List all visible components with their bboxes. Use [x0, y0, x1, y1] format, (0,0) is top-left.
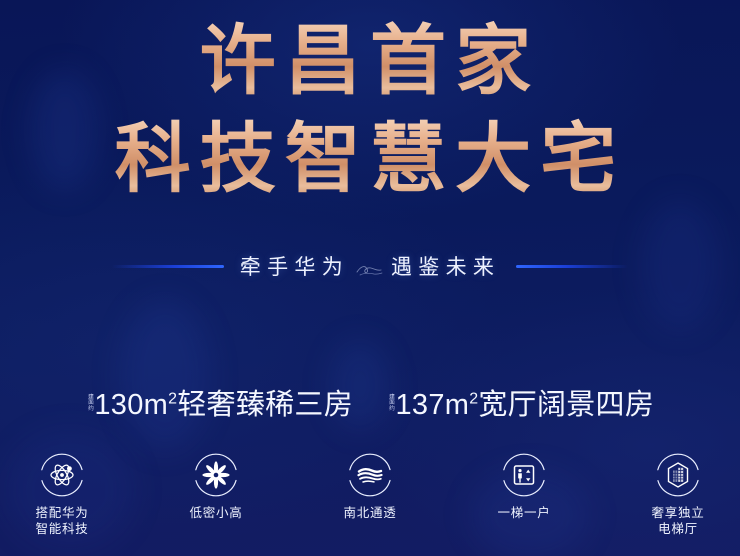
subtitle-right-text: 遇鉴未来	[391, 251, 500, 281]
area-line: 建面约 130m2轻奢臻稀三房 建面约 137m2宽厅阔景四房	[0, 381, 740, 423]
hex-building-icon	[655, 452, 701, 498]
bg-texture-blob	[120, 300, 210, 450]
subtitle: 牵手华为 遇鉴未来	[240, 251, 500, 281]
atom-icon	[39, 452, 85, 498]
area-item: 建面约 130m2轻奢臻稀三房	[86, 381, 353, 423]
area-unit: m	[445, 389, 469, 421]
subtitle-left-text: 牵手华为	[240, 251, 349, 281]
area-tag: 建面约	[86, 393, 92, 410]
feature-item-ventilation: 南北通透	[327, 452, 413, 537]
feature-label: 奢享独立 电梯厅	[651, 505, 704, 537]
area-value: 137	[396, 389, 445, 421]
elevator-icon	[501, 452, 547, 498]
feature-row: 搭配华为 智能科技	[0, 452, 740, 537]
area-unit-sup: 2	[469, 390, 478, 407]
decorative-rule-left-icon	[112, 265, 224, 268]
promo-poster: 许昌首家 科技智慧大宅 牵手华为 遇鉴未来 建面约 130m2轻奢臻稀三房 建面…	[0, 0, 740, 556]
area-tag: 建面约	[387, 393, 393, 410]
feature-label: 搭配华为 智能科技	[35, 505, 88, 537]
feature-item-one-lift-one-unit: 一梯一户	[481, 452, 567, 537]
area-unit: m	[144, 389, 168, 421]
feature-item-low-density: 低密小高	[173, 452, 259, 537]
headline-line-1: 许昌首家	[0, 16, 740, 108]
feature-item-private-lift-lobby: 奢享独立 电梯厅	[635, 452, 721, 537]
area-unit-sup: 2	[168, 390, 177, 407]
area-desc: 宽厅阔景四房	[478, 389, 654, 421]
area-desc: 轻奢臻稀三房	[177, 389, 353, 421]
subtitle-band: 牵手华为 遇鉴未来	[0, 248, 740, 284]
area-value: 130	[94, 389, 143, 421]
feature-label: 一梯一户	[497, 505, 550, 521]
area-text: 137m2宽厅阔景四房	[396, 381, 655, 423]
headline-line-2: 科技智慧大宅	[0, 114, 740, 206]
flower-icon	[193, 452, 239, 498]
wind-waves-icon	[347, 452, 393, 498]
decorative-rule-right-icon	[516, 265, 628, 268]
script-flourish-mark-icon	[355, 260, 385, 276]
feature-label: 南北通透	[343, 505, 396, 521]
area-text: 130m2轻奢臻稀三房	[94, 381, 353, 423]
area-item: 建面约 137m2宽厅阔景四房	[387, 381, 654, 423]
feature-item-smart-tech: 搭配华为 智能科技	[19, 452, 105, 537]
feature-label: 低密小高	[189, 505, 242, 521]
